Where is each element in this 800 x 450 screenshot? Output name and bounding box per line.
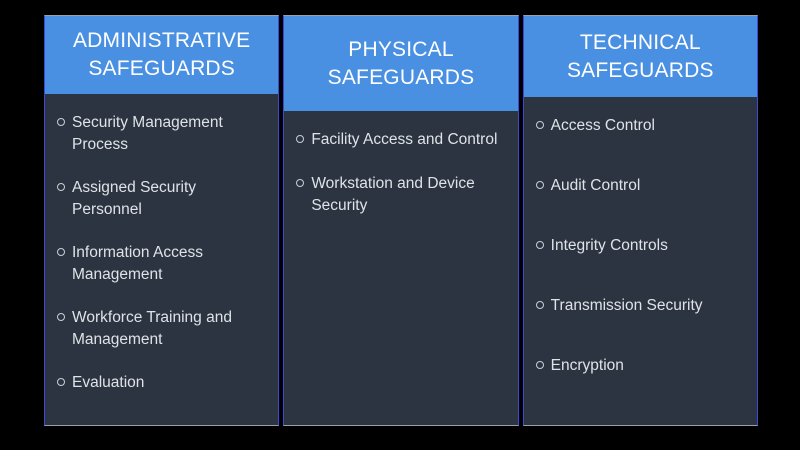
column-header-technical: TECHNICAL SAFEGUARDS bbox=[524, 16, 757, 97]
hollow-circle-icon bbox=[57, 248, 65, 256]
column-technical-safeguards: TECHNICAL SAFEGUARDS Access Control Audi… bbox=[523, 15, 758, 426]
list-item-label: Audit Control bbox=[551, 175, 743, 197]
column-body-administrative: Security Management Process Assigned Sec… bbox=[45, 94, 278, 425]
list-item-label: Workforce Training and Management bbox=[72, 307, 264, 351]
hollow-circle-icon bbox=[536, 301, 544, 309]
list-item: Workforce Training and Management bbox=[57, 307, 264, 351]
hollow-circle-icon bbox=[57, 183, 65, 191]
hollow-circle-icon bbox=[536, 361, 544, 369]
list-item: Access Control bbox=[536, 115, 743, 137]
list-item-label: Workstation and Device Security bbox=[311, 173, 503, 217]
list-item: Facility Access and Control bbox=[296, 129, 503, 151]
hollow-circle-icon bbox=[57, 118, 65, 126]
list-item: Workstation and Device Security bbox=[296, 173, 503, 217]
list-item: Transmission Security bbox=[536, 295, 743, 317]
hollow-circle-icon bbox=[296, 179, 304, 187]
safeguards-slide: ADMINISTRATIVE SAFEGUARDS Security Manag… bbox=[0, 0, 800, 450]
column-header-administrative: ADMINISTRATIVE SAFEGUARDS bbox=[45, 16, 278, 94]
list-item-label: Information Access Management bbox=[72, 242, 264, 286]
column-body-technical: Access Control Audit Control Integrity C… bbox=[524, 97, 757, 425]
list-item-label: Facility Access and Control bbox=[311, 129, 503, 151]
list-item: Audit Control bbox=[536, 175, 743, 197]
list-item-label: Transmission Security bbox=[551, 295, 743, 317]
list-item-label: Encryption bbox=[551, 355, 743, 377]
column-physical-safeguards: PHYSICAL SAFEGUARDS Facility Access and … bbox=[283, 15, 518, 426]
list-item: Assigned Security Personnel bbox=[57, 177, 264, 221]
list-item-label: Integrity Controls bbox=[551, 235, 743, 257]
list-item-label: Access Control bbox=[551, 115, 743, 137]
list-item: Information Access Management bbox=[57, 242, 264, 286]
hollow-circle-icon bbox=[536, 121, 544, 129]
hollow-circle-icon bbox=[536, 181, 544, 189]
list-item: Security Management Process bbox=[57, 112, 264, 156]
list-item: Evaluation bbox=[57, 372, 264, 394]
hollow-circle-icon bbox=[536, 241, 544, 249]
hollow-circle-icon bbox=[296, 135, 304, 143]
safeguards-table: ADMINISTRATIVE SAFEGUARDS Security Manag… bbox=[44, 15, 758, 426]
column-header-physical: PHYSICAL SAFEGUARDS bbox=[284, 16, 517, 111]
list-item: Integrity Controls bbox=[536, 235, 743, 257]
list-item-label: Assigned Security Personnel bbox=[72, 177, 264, 221]
hollow-circle-icon bbox=[57, 313, 65, 321]
column-administrative-safeguards: ADMINISTRATIVE SAFEGUARDS Security Manag… bbox=[44, 15, 279, 426]
list-item-label: Evaluation bbox=[72, 372, 264, 394]
list-item-label: Security Management Process bbox=[72, 112, 264, 156]
hollow-circle-icon bbox=[57, 378, 65, 386]
list-item: Encryption bbox=[536, 355, 743, 377]
column-body-physical: Facility Access and Control Workstation … bbox=[284, 111, 517, 425]
